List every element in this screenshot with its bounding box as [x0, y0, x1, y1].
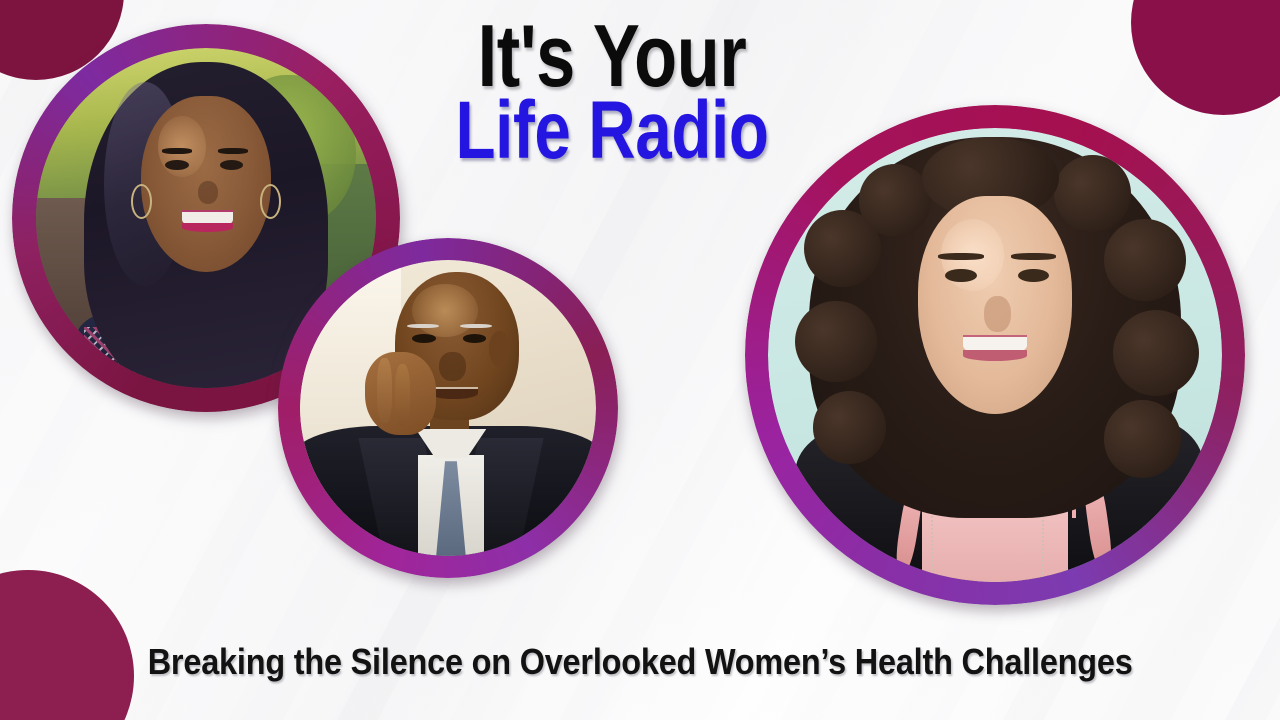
episode-subtitle-text: Breaking the Silence on Overlooked Women…: [148, 641, 1133, 683]
show-title-line-2: Life Radio: [444, 92, 780, 170]
photo-eyebrow-right: [1011, 253, 1056, 260]
photo-hair-curl: [1104, 400, 1181, 477]
photo-eye-right: [463, 334, 487, 343]
photo-finger-2: [395, 364, 410, 426]
photo-head-highlight: [412, 284, 477, 337]
photo-earring-right: [260, 184, 281, 219]
portrait-photo-center: [300, 260, 596, 556]
photo-nose: [984, 296, 1011, 332]
photo-hair-curl: [1113, 310, 1199, 396]
photo-lower-lip: [182, 223, 233, 232]
photo-nose: [439, 352, 466, 382]
thumbnail-canvas: It's Your Life Radio: [0, 0, 1280, 720]
photo-eyebrow-right: [218, 148, 249, 153]
photo-eye-left: [412, 334, 436, 343]
photo-hair-curl: [1104, 219, 1186, 301]
photo-nose: [198, 181, 218, 205]
photo-finger-1: [377, 358, 392, 423]
guest-doctor-portrait: [745, 105, 1245, 605]
photo-hair-curl: [859, 164, 932, 237]
photo-mouth: [430, 387, 477, 398]
photo-eyebrow-left: [162, 148, 193, 153]
photo-hair-curl: [795, 301, 877, 383]
photo-eyebrow-left: [938, 253, 983, 260]
photo-hair-curl: [813, 391, 886, 464]
show-title: It's Your Life Radio: [402, 14, 822, 169]
portrait-photo-right: [768, 128, 1222, 582]
photo-earring-left: [131, 184, 152, 219]
episode-subtitle: Breaking the Silence on Overlooked Women…: [0, 641, 1280, 683]
photo-ear: [489, 331, 510, 367]
host-man-suit-portrait: [278, 238, 618, 578]
photo-eye-left: [945, 269, 977, 283]
